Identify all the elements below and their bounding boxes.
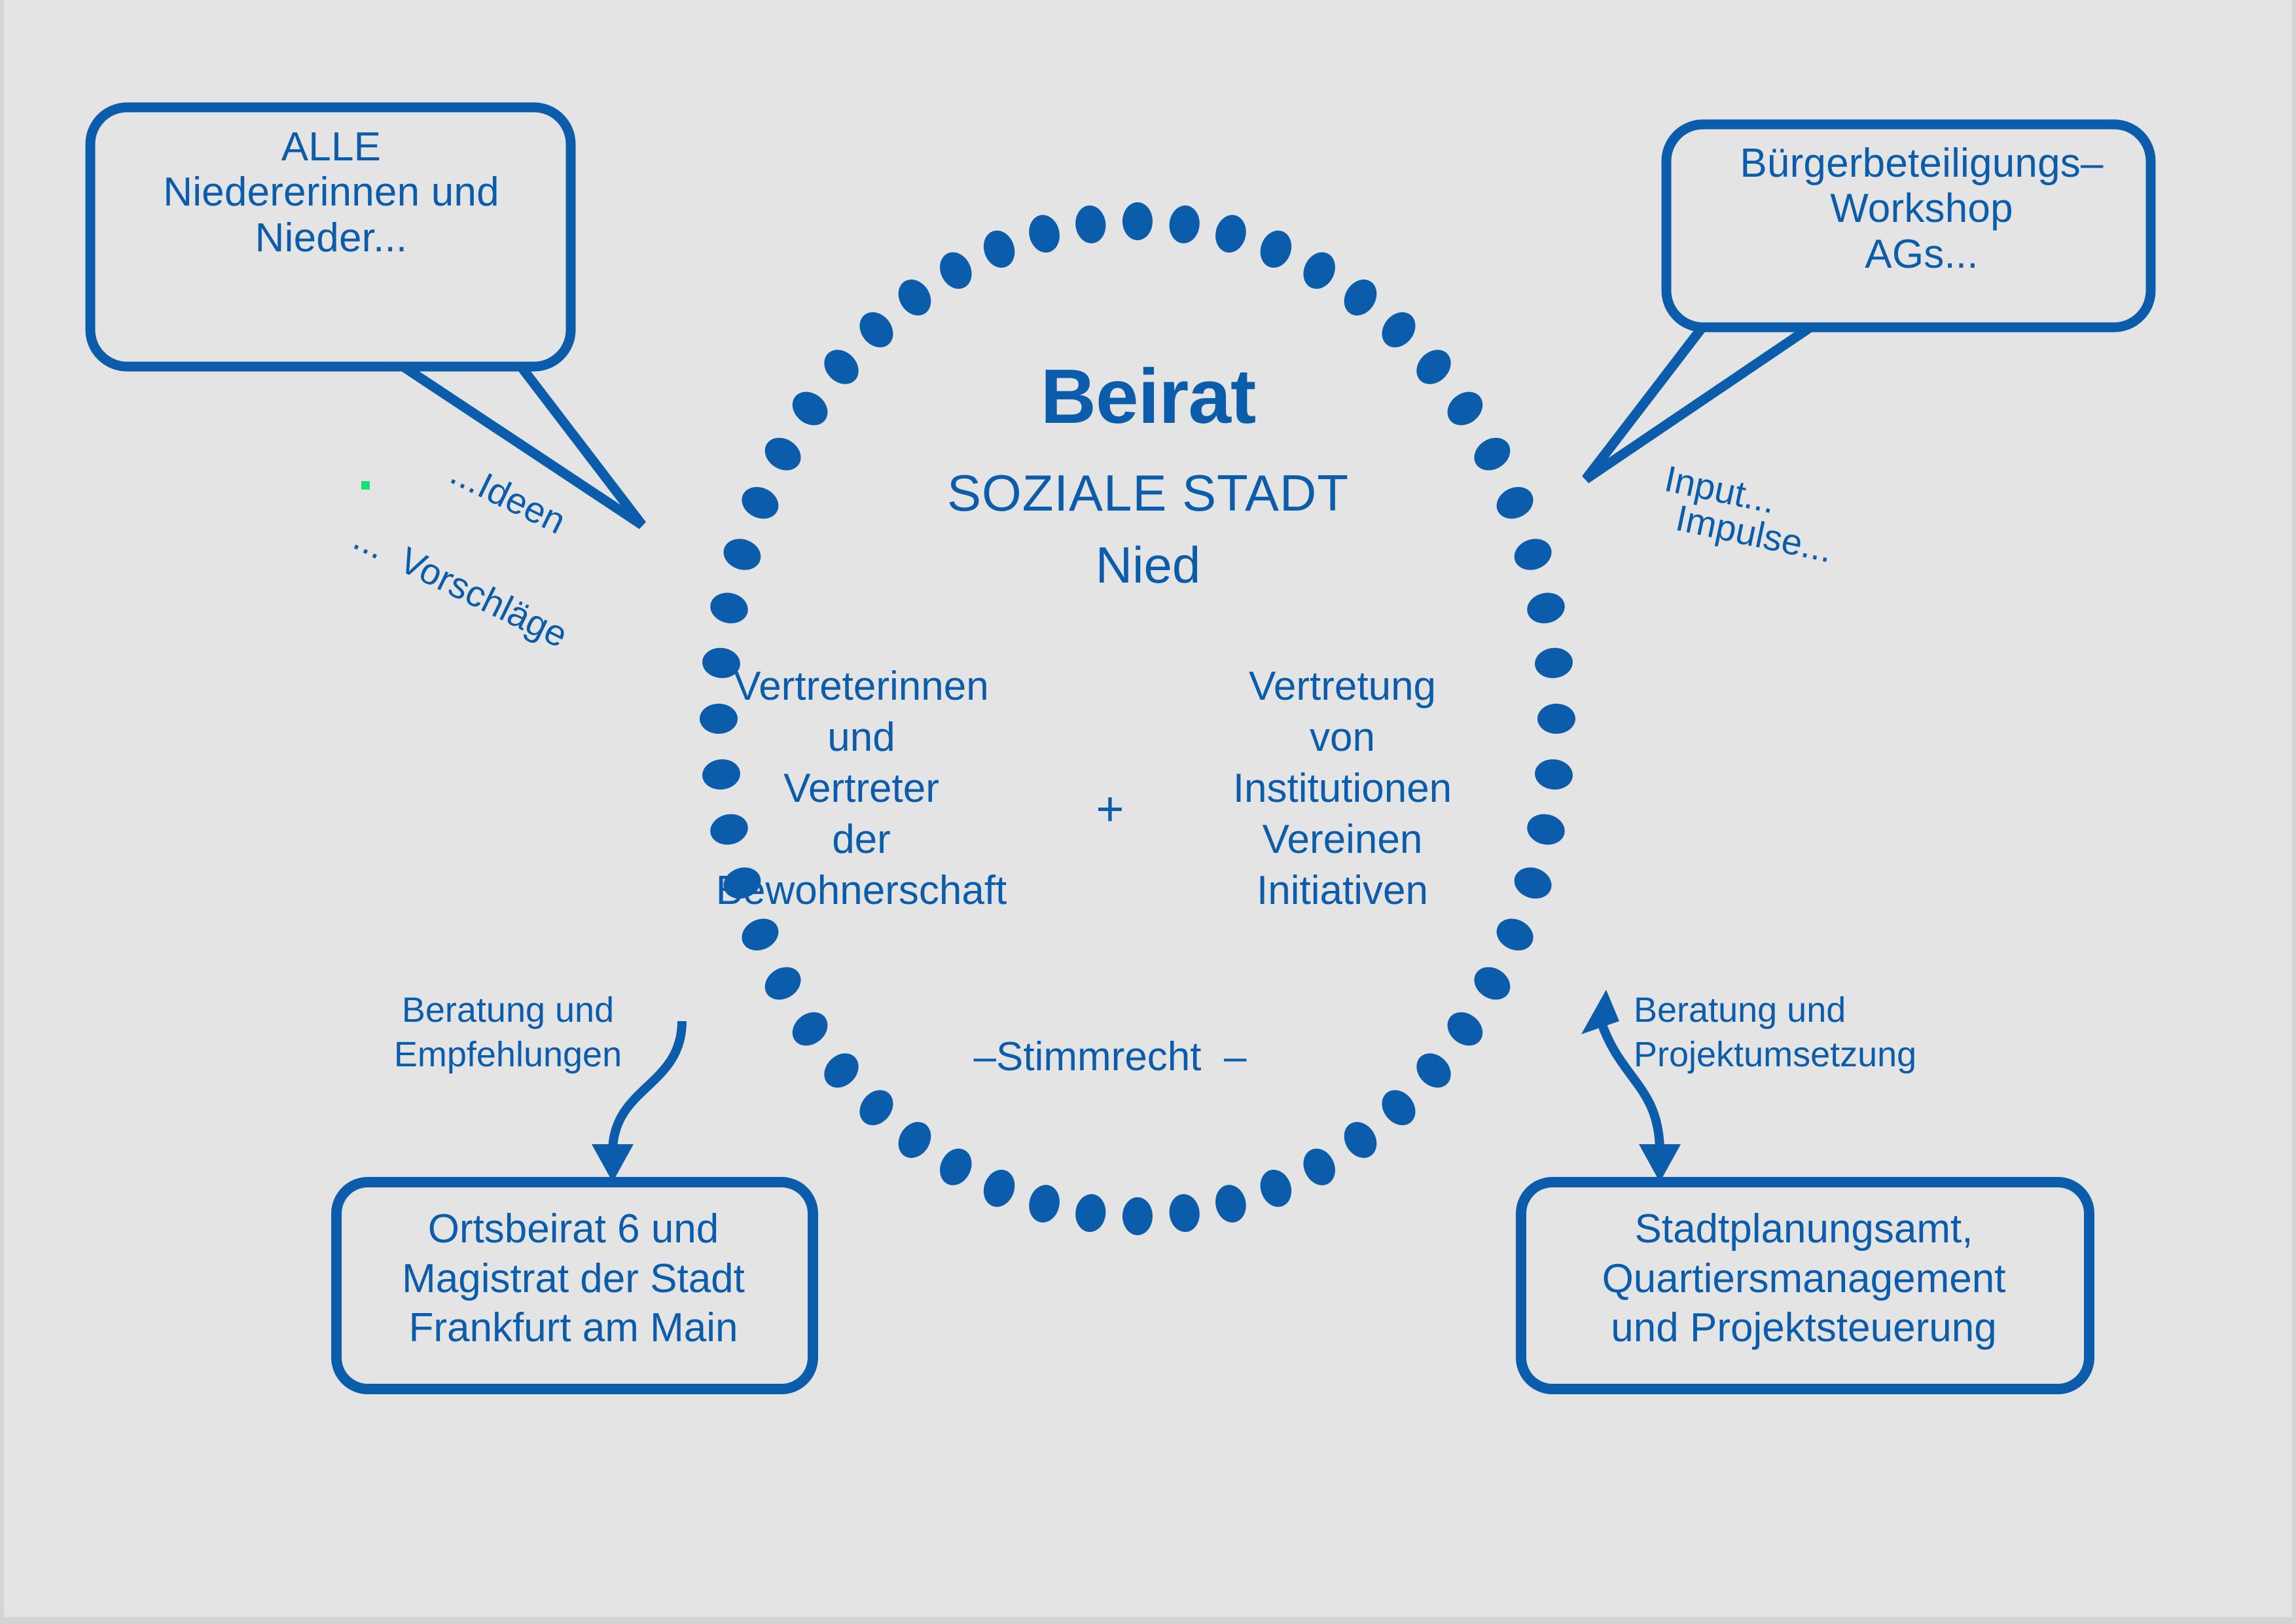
box-bottom-right-label: Stadtplanungsamt, Quartiersmanagement un… [1522, 1204, 2085, 1353]
ring-dot [1026, 212, 1064, 256]
arrow-bottom-left-head [592, 1144, 634, 1182]
ring-dot [759, 960, 807, 1006]
ring-dot [1375, 1083, 1422, 1132]
ring-dot [1122, 202, 1153, 240]
ring-dot [1297, 247, 1341, 294]
ring-dot [1168, 204, 1202, 245]
ring-dot [1537, 704, 1575, 734]
arrow-bottom-right-head-down [1639, 1144, 1681, 1182]
center-column-right: Vertretung von Institutionen Vereinen In… [1202, 661, 1483, 917]
page-location: Nied [4, 537, 2292, 594]
box-bottom-left-label: Ortsbeirat 6 und Magistrat der Stadt Fra… [338, 1204, 809, 1353]
ring-dot [1338, 274, 1384, 322]
ring-dot [1073, 1193, 1107, 1234]
bubble-top-right-label: Bürgerbeteiligungs– Workshop AGs... [1679, 141, 2164, 277]
bubble-top-left-label: ALLE Niedererinnen und Nieder... [96, 124, 567, 261]
arrow-label-bottom-left: Beratung und Empfehlungen [370, 988, 645, 1077]
page-title: Beirat [4, 353, 2292, 440]
ring-dot [1524, 589, 1568, 627]
ring-dot [853, 306, 900, 354]
ring-dot [934, 1144, 978, 1191]
ring-dot [1255, 226, 1297, 272]
ring-dot [934, 247, 978, 294]
ring-dot [1491, 912, 1538, 956]
ring-dot [1297, 1144, 1341, 1191]
ring-dot [1168, 1193, 1202, 1234]
ring-dot [1212, 1182, 1250, 1225]
ring-dot [978, 1165, 1020, 1211]
ring-dot [1073, 204, 1107, 245]
ring-dot [1255, 1165, 1297, 1211]
ring-dot [1510, 863, 1556, 904]
center-column-left: Vertreterinnen und Vertreter der Bewohne… [691, 661, 1031, 917]
diagram-canvas: ALLE Niedererinnen und Nieder... Bürgerb… [4, 0, 2292, 1617]
ring-dot [1410, 1047, 1458, 1095]
ring-dot [978, 226, 1020, 272]
ring-dot [1534, 757, 1575, 791]
plus-symbol: + [1064, 782, 1156, 837]
ring-dot [1468, 960, 1516, 1006]
ring-dot [1375, 306, 1422, 354]
ring-dot [1212, 212, 1250, 256]
ring-dot [892, 274, 938, 322]
green-marker-dot [361, 481, 370, 490]
ring-dot [1122, 1197, 1153, 1235]
ring-dot [1441, 1005, 1489, 1053]
stimmrecht-note: –Stimmrecht – [816, 1034, 1405, 1079]
ring-dot [1524, 810, 1568, 848]
ring-dot [708, 589, 751, 627]
ring-dot [853, 1083, 900, 1132]
ring-dot [1338, 1116, 1384, 1164]
ring-dot [736, 912, 783, 956]
ring-dot [892, 1116, 938, 1164]
arrow-bottom-right-head-up [1581, 990, 1619, 1034]
page-subtitle: SOZIALE STADT [4, 465, 2292, 522]
arrow-label-bottom-right: Beratung und Projektumsetzung [1634, 988, 1967, 1077]
ring-dot [1026, 1182, 1064, 1225]
ring-dot [1534, 646, 1575, 680]
